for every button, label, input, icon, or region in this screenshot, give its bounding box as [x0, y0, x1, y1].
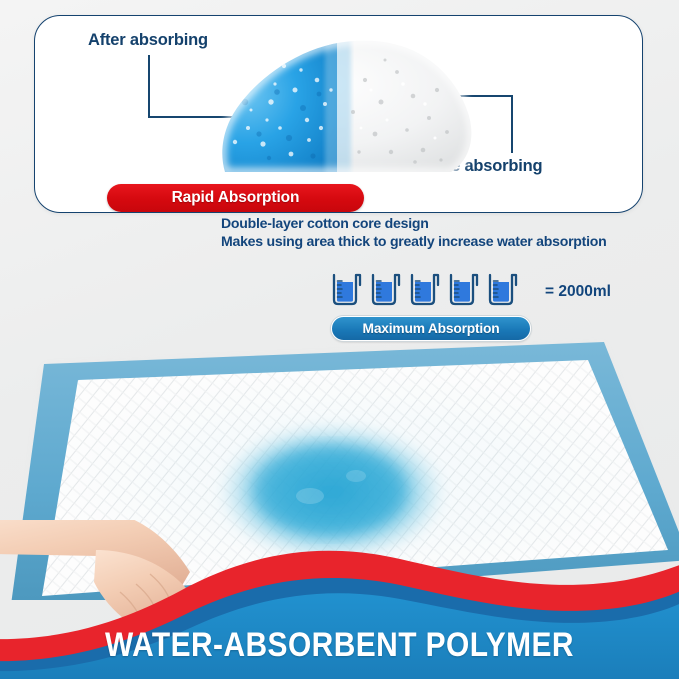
before-leader-vertical	[511, 95, 513, 153]
description-text: Double-layer cotton core design Makes us…	[221, 215, 671, 250]
comparison-card: After absorbing Before absorbing	[34, 15, 643, 213]
rapid-absorption-badge: Rapid Absorption	[107, 184, 364, 212]
capacity-equals-label: = 2000ml	[545, 283, 611, 301]
description-line-1: Double-layer cotton core design	[221, 215, 671, 233]
polymer-granule-pile	[185, 32, 485, 182]
granule-pile-graphic	[185, 32, 485, 182]
infographic-root: After absorbing Before absorbing	[0, 0, 679, 679]
rapid-absorption-label: Rapid Absorption	[172, 189, 300, 207]
banner-title: WATER-ABSORBENT POLYMER	[41, 626, 639, 665]
product-scene: 1000 WATER-ABSORBENT POLYMER	[0, 300, 679, 679]
after-leader-vertical	[148, 55, 150, 118]
description-line-2: Makes using area thick to greatly increa…	[221, 233, 671, 251]
